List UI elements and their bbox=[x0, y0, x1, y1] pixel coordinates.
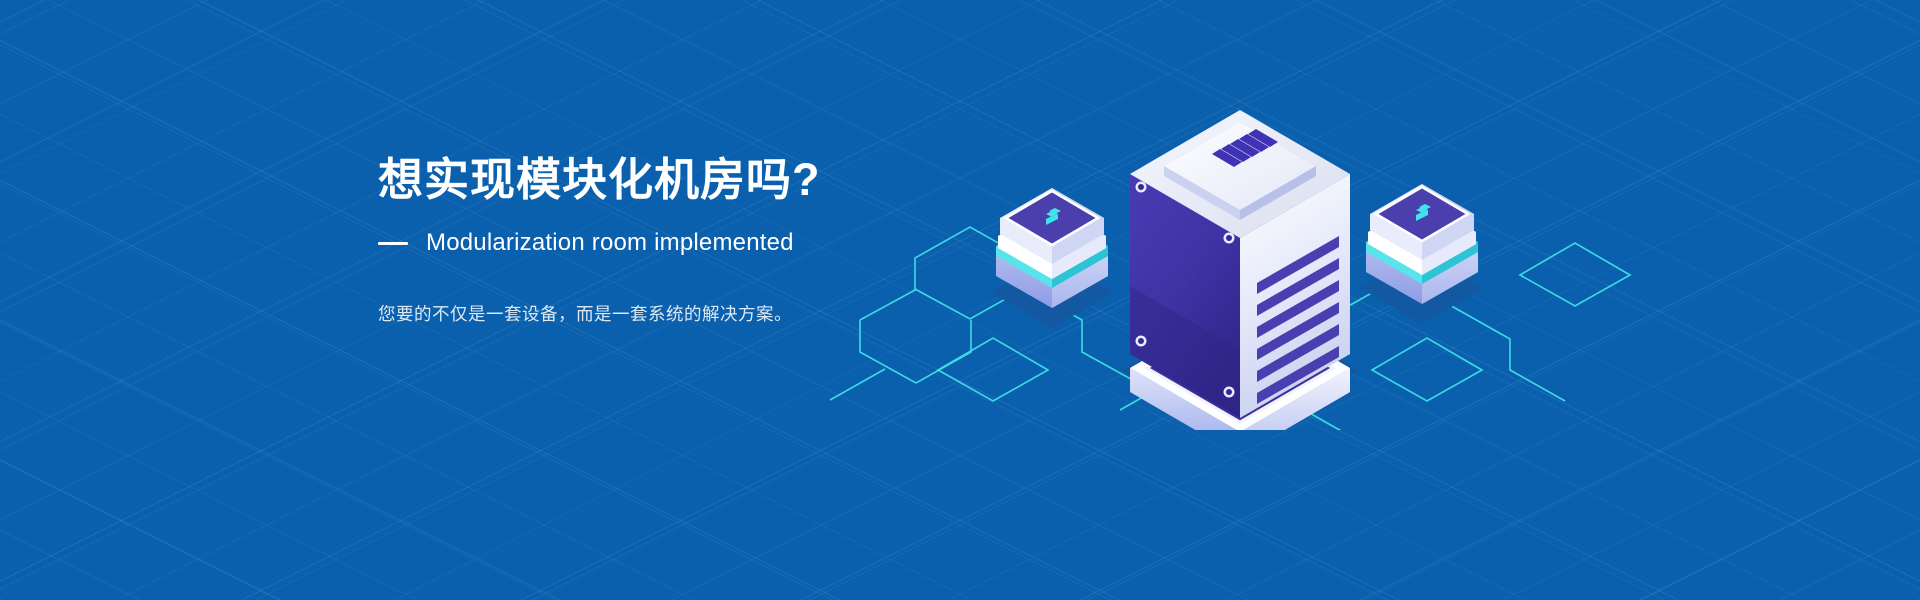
page-description: 您要的不仅是一套设备，而是一套系统的解决方案。 bbox=[378, 300, 1098, 328]
hero-banner: 想实现模块化机房吗? Modularization room implement… bbox=[0, 0, 1920, 600]
divider-dash-icon bbox=[378, 242, 408, 245]
hero-copy-block: 想实现模块化机房吗? Modularization room implement… bbox=[378, 150, 1098, 346]
page-subtitle: Modularization room implemented bbox=[426, 228, 794, 258]
subtitle-row: Modularization room implemented bbox=[378, 228, 1098, 258]
server-tower bbox=[1130, 110, 1350, 430]
page-title: 想实现模块化机房吗? bbox=[378, 150, 1098, 210]
